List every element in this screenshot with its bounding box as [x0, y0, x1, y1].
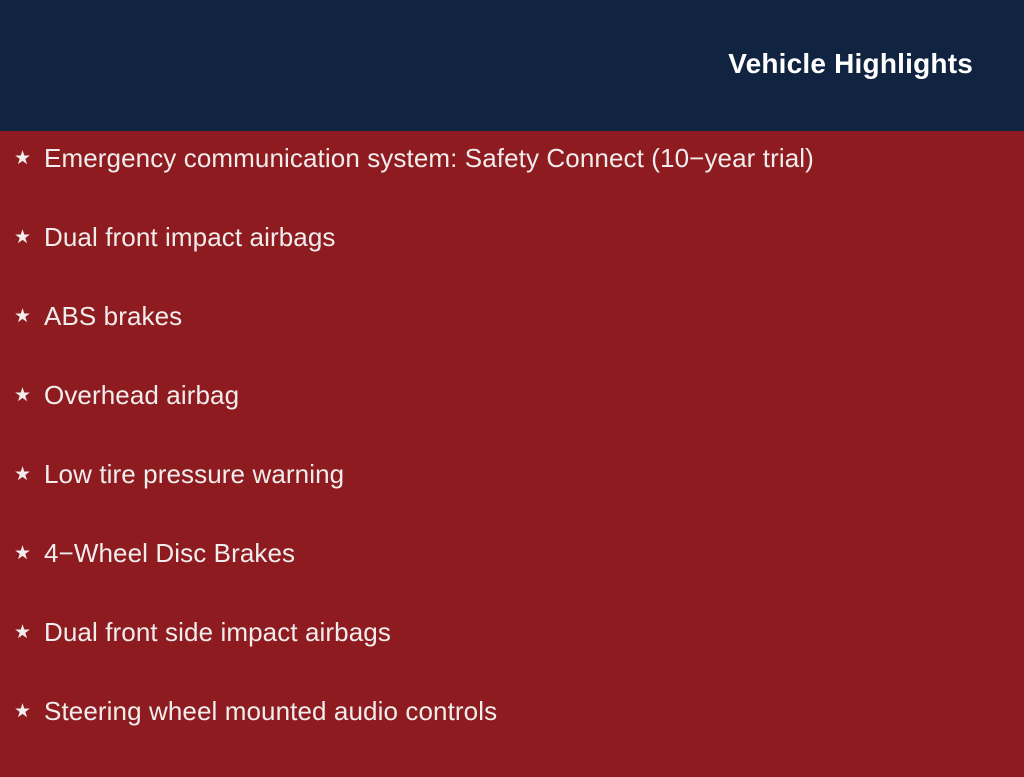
list-item: ★ Low tire pressure warning: [0, 461, 1024, 540]
list-item-label: Dual front side impact airbags: [44, 619, 1024, 645]
header-bar: Vehicle Highlights: [0, 0, 1024, 131]
list-item-label: Dual front impact airbags: [44, 224, 1024, 250]
list-item: ★ Overhead airbag: [0, 382, 1024, 461]
list-item: ★ Emergency communication system: Safety…: [0, 145, 1024, 224]
vehicle-highlights-list: ★ Emergency communication system: Safety…: [0, 131, 1024, 777]
slide-root: Vehicle Highlights ★ Emergency communica…: [0, 0, 1024, 768]
list-item-label: 4−Wheel Disc Brakes: [44, 540, 1024, 566]
star-bullet-icon: ★: [14, 386, 44, 405]
star-bullet-icon: ★: [14, 544, 44, 563]
star-bullet-icon: ★: [14, 623, 44, 642]
list-item-label: Steering wheel mounted audio controls: [44, 698, 1024, 724]
content-area: ★ Emergency communication system: Safety…: [0, 131, 1024, 768]
list-item: ★ 4−Wheel Disc Brakes: [0, 540, 1024, 619]
star-bullet-icon: ★: [14, 149, 44, 168]
list-item: ★ Steering wheel mounted audio controls: [0, 698, 1024, 777]
list-item-label: ABS brakes: [44, 303, 1024, 329]
star-bullet-icon: ★: [14, 307, 44, 326]
star-bullet-icon: ★: [14, 228, 44, 247]
list-item: ★ Dual front side impact airbags: [0, 619, 1024, 698]
list-item-label: Low tire pressure warning: [44, 461, 1024, 487]
page-title: Vehicle Highlights: [728, 50, 973, 78]
list-item: ★ ABS brakes: [0, 303, 1024, 382]
list-item: ★ Dual front impact airbags: [0, 224, 1024, 303]
star-bullet-icon: ★: [14, 702, 44, 721]
list-item-label: Overhead airbag: [44, 382, 1024, 408]
star-bullet-icon: ★: [14, 465, 44, 484]
list-item-label: Emergency communication system: Safety C…: [44, 145, 1024, 171]
